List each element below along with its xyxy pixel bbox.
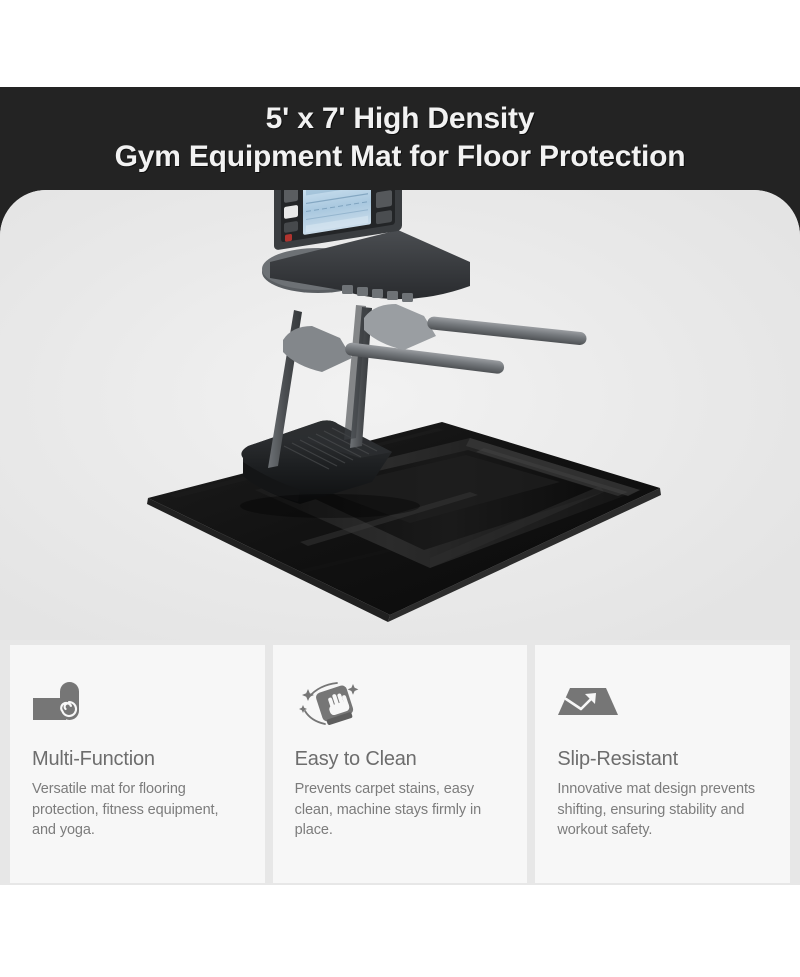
- feature-description: Prevents carpet stains, easy clean, mach…: [295, 779, 506, 841]
- product-panel: [0, 190, 800, 640]
- product-marketing-image: 5' x 7' High Density Gym Equipment Mat f…: [0, 0, 800, 977]
- feature-description: Versatile mat for flooring protection, f…: [32, 779, 243, 841]
- feature-title: Slip-Resistant: [557, 747, 768, 771]
- feature-title: Easy to Clean: [295, 747, 506, 771]
- title-line-1: 5' x 7' High Density: [266, 102, 535, 135]
- treadmill-console: [262, 190, 470, 302]
- feature-description: Innovative mat design prevents shifting,…: [557, 779, 768, 841]
- title-line-2: Gym Equipment Mat for Floor Protection: [0, 138, 800, 176]
- page-title: 5' x 7' High Density Gym Equipment Mat f…: [0, 100, 800, 176]
- bottom-whitespace: [0, 885, 800, 977]
- feature-card-easy-to-clean[interactable]: Easy to Clean Prevents carpet stains, ea…: [273, 645, 528, 883]
- treadmill-handrails: [283, 304, 587, 374]
- slip-resistant-mat-icon: [557, 675, 768, 731]
- feature-title: Multi-Function: [32, 747, 243, 771]
- cleaning-sponge-icon: [295, 675, 506, 731]
- product-stage: [0, 190, 800, 640]
- feature-card-slip-resistant[interactable]: Slip-Resistant Innovative mat design pre…: [535, 645, 790, 883]
- features-row: Multi-Function Versatile mat for floorin…: [10, 645, 790, 883]
- feature-card-multi-function[interactable]: Multi-Function Versatile mat for floorin…: [10, 645, 265, 883]
- rolled-mat-icon: [32, 675, 243, 731]
- treadmill-on-mat-illustration: [0, 190, 800, 640]
- features-strip: Multi-Function Versatile mat for floorin…: [0, 640, 800, 885]
